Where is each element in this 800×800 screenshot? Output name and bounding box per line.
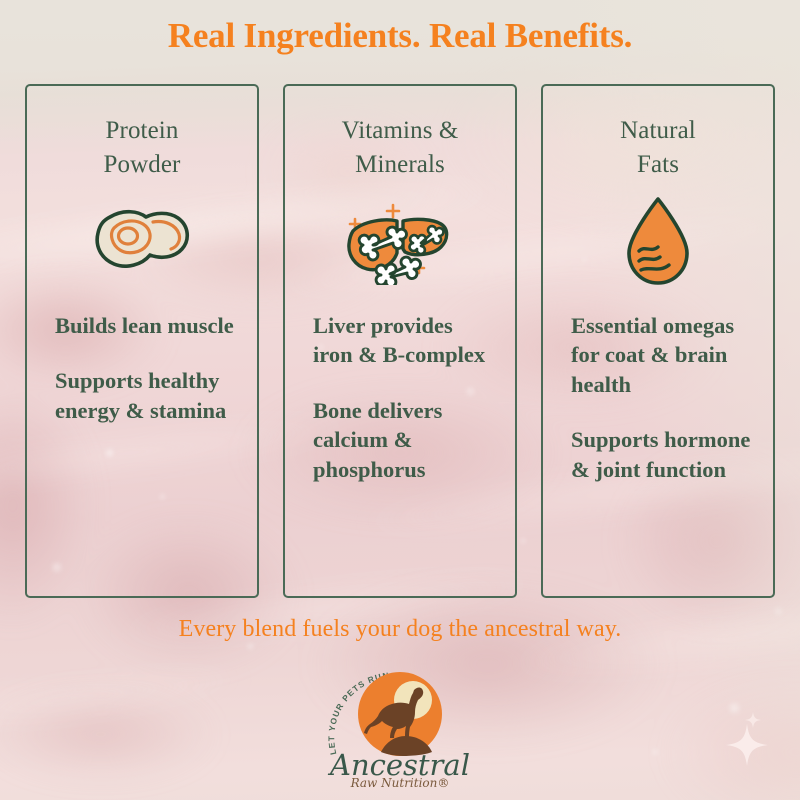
- oil-droplet-icon: [621, 197, 695, 285]
- benefit-card-vitamins-minerals: Vitamins & Minerals: [283, 84, 517, 598]
- benefit-item: Supports healthy energy & stamina: [55, 366, 239, 425]
- benefit-list-vitamins-minerals: Liver provides iron & B-complex Bone del…: [299, 311, 501, 484]
- steak-icon: [90, 197, 194, 285]
- benefit-item: Supports hormone & joint function: [571, 425, 755, 484]
- brand-logo: LET YOUR PETS RUN WILD Ancestral Raw Nut…: [0, 656, 800, 788]
- card-title-line: Fats: [620, 148, 696, 182]
- benefit-item: Bone delivers calcium & phosphorus: [313, 396, 497, 484]
- card-title-natural-fats: Natural Fats: [620, 114, 696, 181]
- card-title-line: Protein: [104, 114, 181, 148]
- card-title-vitamins-minerals: Vitamins & Minerals: [342, 114, 459, 181]
- card-title-line: Powder: [104, 148, 181, 182]
- benefit-item: Liver provides iron & B-complex: [313, 311, 497, 370]
- logo-brand-subtitle: Raw Nutrition®: [350, 776, 450, 788]
- benefit-card-protein-powder: Protein Powder Builds lean muscle Suppor…: [25, 84, 259, 598]
- card-title-protein-powder: Protein Powder: [104, 114, 181, 181]
- benefit-card-natural-fats: Natural Fats Essential omegas for coat &…: [541, 84, 775, 598]
- benefit-item: Builds lean muscle: [55, 311, 239, 340]
- liver-bone-icon: [341, 197, 459, 285]
- benefit-item: Essential omegas for coat & brain health: [571, 311, 755, 399]
- card-title-line: Vitamins &: [342, 114, 459, 148]
- card-title-line: Minerals: [342, 148, 459, 182]
- benefit-cards-row: Protein Powder Builds lean muscle Suppor…: [25, 84, 775, 598]
- benefit-list-natural-fats: Essential omegas for coat & brain health…: [557, 311, 759, 484]
- tagline: Every blend fuels your dog the ancestral…: [0, 616, 800, 643]
- page-title: Real Ingredients. Real Benefits.: [0, 16, 800, 56]
- benefit-list-protein-powder: Builds lean muscle Supports healthy ener…: [41, 311, 243, 425]
- card-title-line: Natural: [620, 114, 696, 148]
